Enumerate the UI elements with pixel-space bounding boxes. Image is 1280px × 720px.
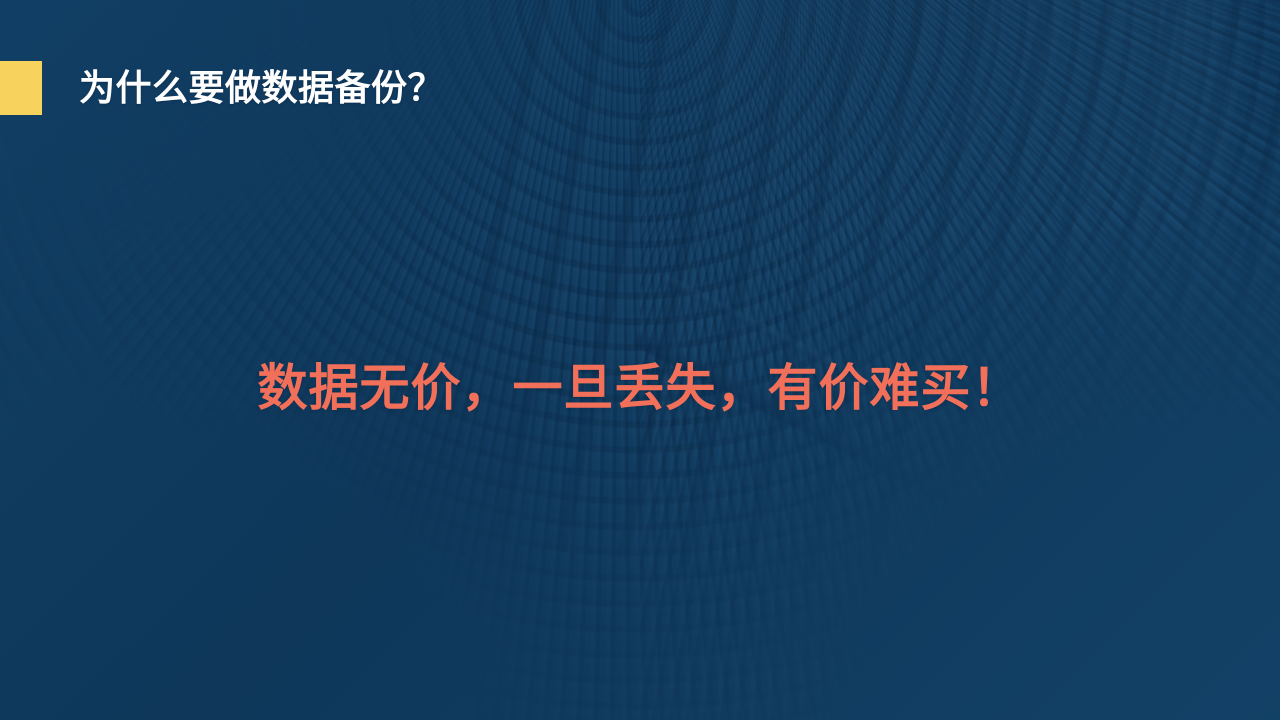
headline-text: 数据无价，一旦丢失，有价难买！ <box>258 360 1023 417</box>
slide-content: 为什么要做数据备份？ 数据无价，一旦丢失，有价难买！ <box>0 0 1280 720</box>
slide-title-row: 为什么要做数据备份？ <box>0 61 444 115</box>
title-accent-block <box>0 61 42 115</box>
presentation-slide: 为什么要做数据备份？ 数据无价，一旦丢失，有价难买！ <box>0 0 1280 720</box>
page-title: 为什么要做数据备份？ <box>79 70 444 106</box>
headline-container: 数据无价，一旦丢失，有价难买！ <box>0 360 1280 417</box>
